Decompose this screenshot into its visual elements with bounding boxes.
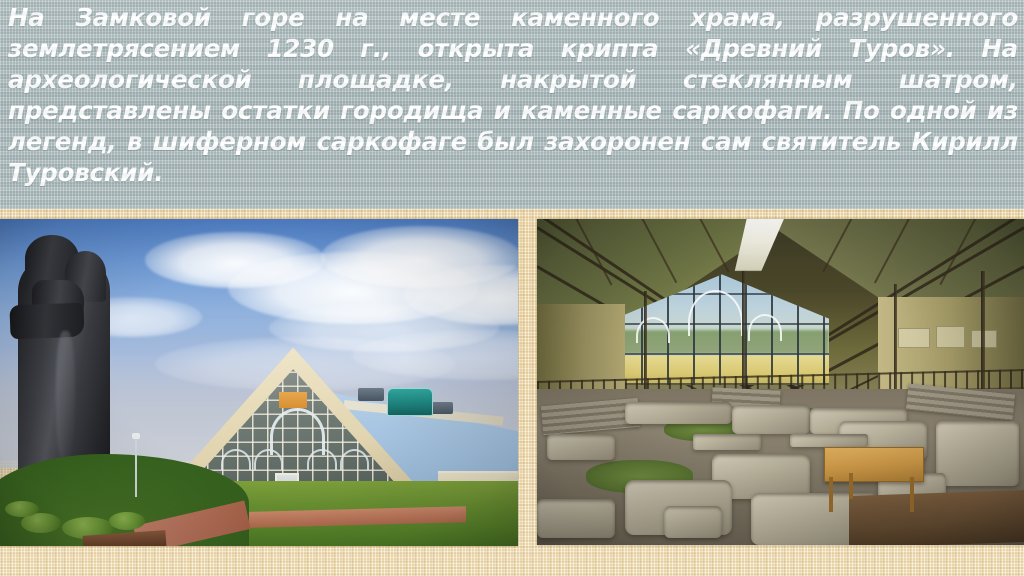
window-arch-small xyxy=(748,314,782,340)
stone-remains xyxy=(537,499,615,538)
stone-slab xyxy=(790,434,868,447)
lamp-head xyxy=(132,433,140,439)
stone-sarcophagus xyxy=(936,421,1019,486)
text-panel: На Замковой горе на месте каменного храм… xyxy=(0,0,1024,209)
stone-slab xyxy=(693,434,761,450)
photo-left-monument-pavilion xyxy=(0,219,518,546)
table-leg xyxy=(829,477,833,513)
lamp-post xyxy=(135,438,137,497)
roof-vent xyxy=(358,388,384,401)
bush xyxy=(109,512,145,530)
slide-body-text: На Замковой горе на месте каменного храм… xyxy=(8,2,1018,188)
stone-remains xyxy=(625,402,732,425)
wall-information-panel xyxy=(898,328,929,348)
stone-remains xyxy=(664,506,722,539)
roof-vent xyxy=(431,402,453,414)
presentation-slide: На Замковой горе на месте каменного храм… xyxy=(0,0,1024,576)
table-leg xyxy=(910,477,914,513)
photo-right-excavation-hall xyxy=(537,219,1024,545)
left-photo-scene xyxy=(0,219,518,546)
monument-cross-arm xyxy=(10,303,85,340)
wooden-walkway xyxy=(849,490,1024,545)
wall-information-panel xyxy=(936,326,964,348)
monument-drapery-highlight xyxy=(56,331,75,463)
right-photo-scene xyxy=(537,219,1024,545)
roof-dome xyxy=(387,388,433,416)
table-leg xyxy=(849,473,853,499)
bush xyxy=(5,501,39,517)
stone-remains xyxy=(732,405,810,434)
stone-remains xyxy=(547,434,615,460)
